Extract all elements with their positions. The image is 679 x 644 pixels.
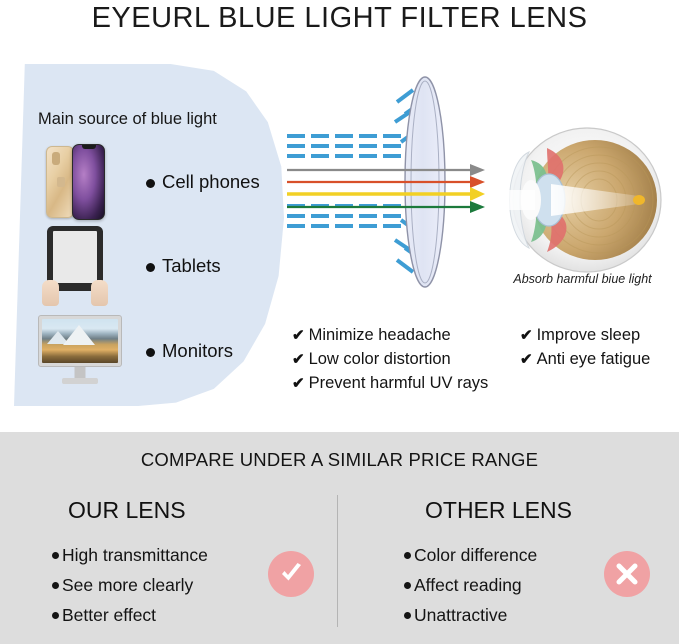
list-item: Affect reading [404,570,537,600]
bullet-dot-icon [52,582,59,589]
feature-item: ✔ Anti eye fatigue [520,350,650,369]
lens-optics-diagram [285,74,490,319]
feature-column-left: ✔ Minimize headache ✔ Low color distorti… [292,326,488,398]
blue-source-heading: Main source of blue light [38,110,217,129]
source-item-label: Cell phones [146,171,260,193]
list-item: See more clearly [52,570,208,600]
desktop-monitor-icon [38,315,122,387]
bullet-dot-icon [52,552,59,559]
blocked-blue-rays-top [287,136,419,156]
list-item-label: Better effect [62,605,156,626]
tablet-icon [40,226,110,306]
list-item: Better effect [52,600,208,630]
check-icon: ✔ [292,350,305,368]
check-badge-icon [268,551,314,597]
compare-title: COMPARE UNDER A SIMILAR PRICE RANGE [0,449,679,471]
source-item-label: Monitors [146,340,233,362]
check-icon: ✔ [520,350,533,368]
smartphone-icon [44,144,106,220]
source-item-tablets: Tablets [40,226,221,306]
list-item-label: Unattractive [414,605,507,626]
bullet-dot-icon [404,582,411,589]
cross-badge-icon [604,551,650,597]
column-divider [337,495,338,627]
eye-caption: Absorb harmful biue light [495,272,670,286]
feature-label: Prevent harmful UV rays [309,374,489,393]
eyeball-anatomy-icon [495,112,670,297]
list-item-label: High transmittance [62,545,208,566]
feature-item: ✔ Minimize headache [292,326,488,345]
check-icon: ✔ [292,374,305,392]
list-item-label: Color difference [414,545,537,566]
eye-svg [495,112,670,297]
list-item: High transmittance [52,540,208,570]
list-item: Color difference [404,540,537,570]
bullet-dot-icon [404,612,411,619]
feature-column-right: ✔ Improve sleep ✔ Anti eye fatigue [520,326,650,374]
list-item-label: See more clearly [62,575,193,596]
other-lens-bullets: Color difference Affect reading Unattrac… [404,540,537,630]
bullet-dot-icon [52,612,59,619]
feature-label: Anti eye fatigue [537,350,651,369]
check-icon: ✔ [520,326,533,344]
source-item-label: Tablets [146,255,221,277]
optics-svg [285,74,490,319]
feature-label: Improve sleep [537,326,641,345]
check-icon: ✔ [292,326,305,344]
list-item: Unattractive [404,600,537,630]
feature-label: Low color distortion [309,350,451,369]
page-title: EYEURL BLUE LIGHT FILTER LENS [0,2,679,35]
poster-root: EYEURL BLUE LIGHT FILTER LENS Main sourc… [0,0,679,644]
feature-item: ✔ Prevent harmful UV rays [292,374,488,393]
bullet-dot-icon [146,348,155,357]
cross-badge-glyph [612,559,642,589]
other-lens-heading: OTHER LENS [425,497,572,524]
source-item-cell-phones: Cell phones [44,144,260,220]
blocked-blue-rays-bottom [287,206,419,226]
compare-section: COMPARE UNDER A SIMILAR PRICE RANGE OUR … [0,432,679,644]
list-item-label: Affect reading [414,575,522,596]
feature-item: ✔ Improve sleep [520,326,650,345]
source-item-monitors: Monitors [38,315,233,387]
check-badge-glyph [276,559,306,589]
feature-label: Minimize headache [309,326,451,345]
bullet-dot-icon [146,179,155,188]
bullet-dot-icon [146,263,155,272]
our-lens-heading: OUR LENS [68,497,186,524]
bullet-dot-icon [404,552,411,559]
our-lens-bullets: High transmittance See more clearly Bett… [52,540,208,630]
feature-item: ✔ Low color distortion [292,350,488,369]
